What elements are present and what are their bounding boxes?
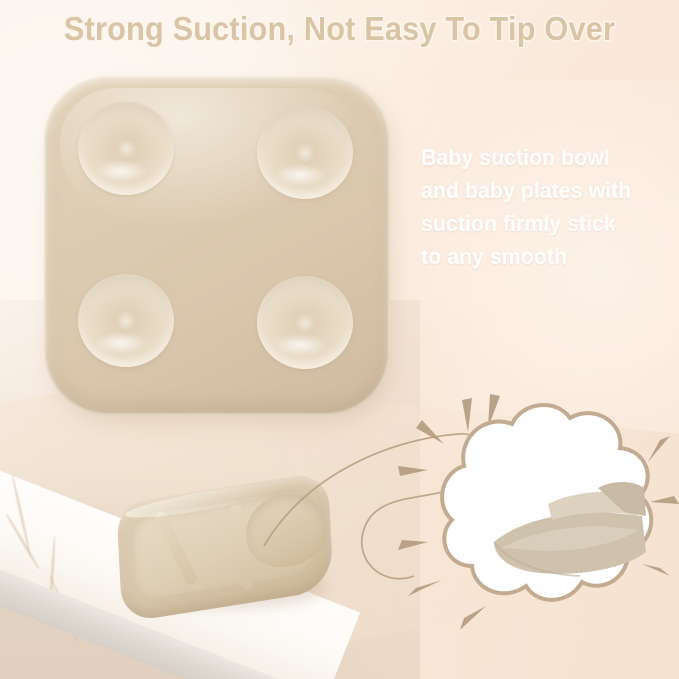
suction-cup-highlight [274, 164, 326, 186]
product-marketing-image: Strong Suction, Not Easy To Tip Over Bab… [0, 0, 679, 679]
body-copy-line-2: and baby plates with [421, 174, 666, 207]
body-copy-line-4: to any smooth [421, 240, 666, 273]
body-copy-line-1: Baby suction bowl [421, 141, 666, 174]
body-copy: Baby suction bowl and baby plates with s… [421, 141, 666, 273]
cloud-callout-graphics [398, 392, 679, 652]
suction-cup-top-right [257, 106, 353, 199]
suction-cup-highlight [274, 334, 326, 356]
suction-cup-highlight [95, 160, 147, 182]
cloud-callout [398, 392, 679, 652]
suction-cup-bottom-right [257, 276, 353, 369]
body-copy-line-3: suction firmly stick [421, 207, 666, 240]
page-title: Strong Suction, Not Easy To Tip Over [24, 10, 655, 48]
suction-cup-bottom-left [78, 274, 174, 367]
suction-cup-top-left [78, 102, 174, 195]
suction-cup-highlight [95, 332, 147, 354]
marble-vein [10, 473, 32, 558]
suction-pad-underside [44, 76, 394, 421]
